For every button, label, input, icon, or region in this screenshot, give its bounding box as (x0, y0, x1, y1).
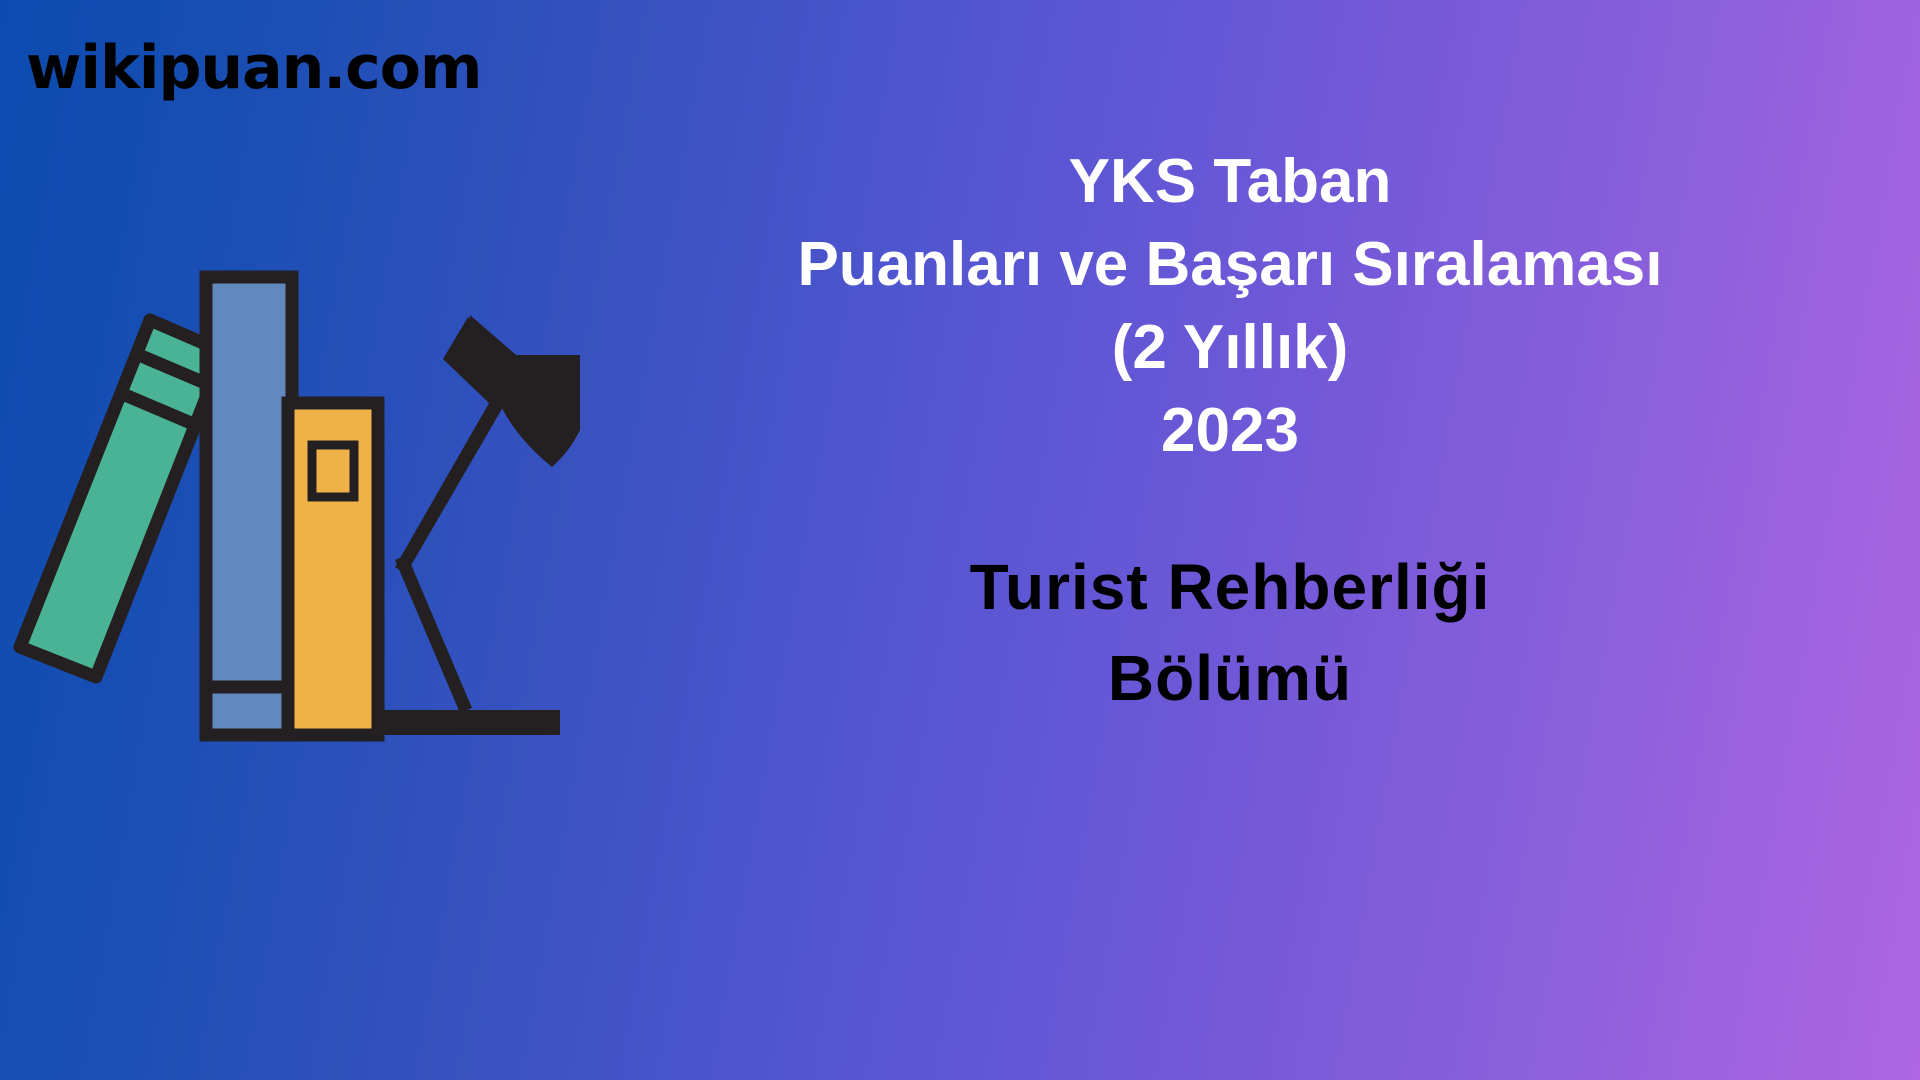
title-line-1: YKS Taban (560, 140, 1900, 223)
books-and-lamp-illustration (0, 255, 580, 755)
desk-lamp-icon (395, 315, 580, 713)
site-watermark: wikipuan.com (26, 38, 481, 98)
yellow-standing-book (288, 403, 378, 735)
blue-standing-book (206, 277, 292, 735)
department-name: Turist Rehberliği Bölümü (560, 542, 1900, 724)
department-line-2: Bölümü (560, 633, 1900, 724)
banner-text-block: YKS Taban Puanları ve Başarı Sıralaması … (560, 140, 1900, 724)
title-line-2: Puanları ve Başarı Sıralaması (560, 223, 1900, 306)
page-title: YKS Taban Puanları ve Başarı Sıralaması … (560, 140, 1900, 472)
department-line-1: Turist Rehberliği (560, 542, 1900, 633)
title-line-4-year: 2023 (560, 389, 1900, 472)
title-line-3: (2 Yıllık) (560, 306, 1900, 389)
green-tilted-book (20, 320, 224, 677)
banner-card: wikipuan.com (0, 0, 1920, 1080)
